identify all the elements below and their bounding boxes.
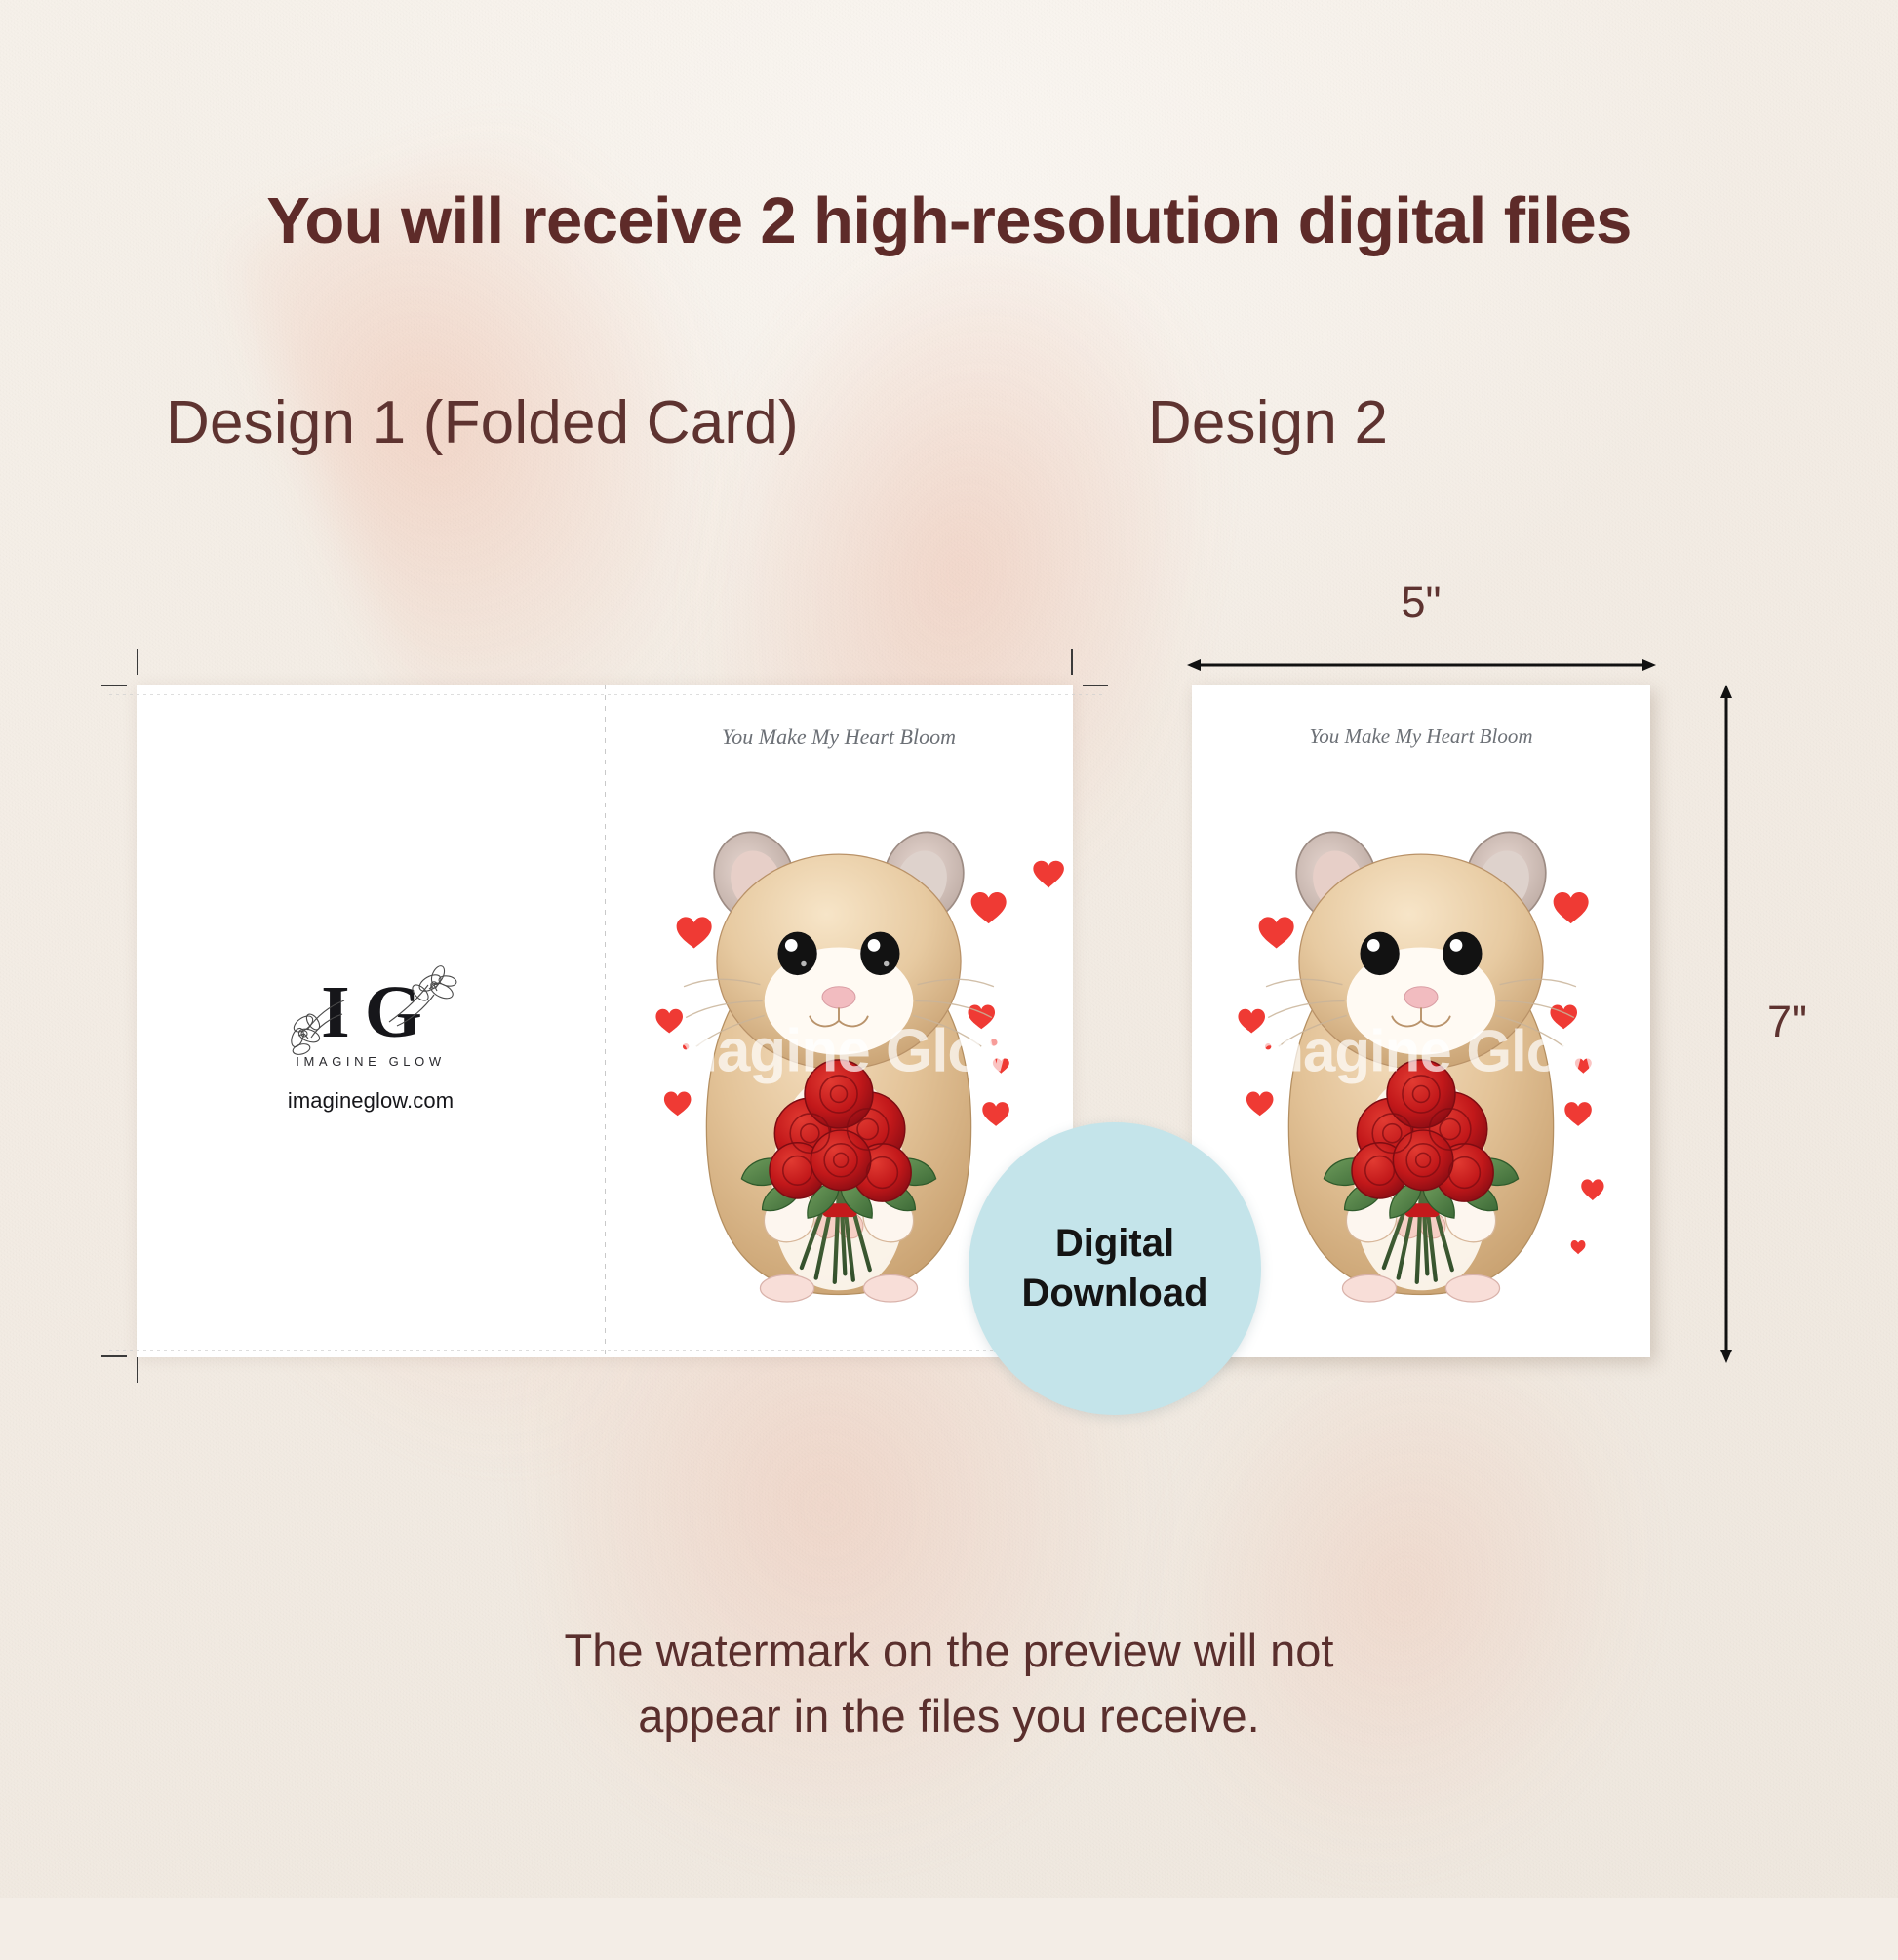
height-dimension-label: 7" [1767,997,1807,1047]
badge-line-1: Digital [1055,1219,1174,1269]
trim-mark-tl-v [137,649,138,675]
guide-line-top [109,694,1102,695]
design-1-folded-card-mockup[interactable]: I G IMAGINE GLOW imagineglow.com You Mak… [137,685,1073,1357]
design-1-label: Design 1 (Folded Card) [166,388,799,457]
badge-line-2: Download [1021,1269,1207,1318]
watermark-disclaimer: The watermark on the preview will not ap… [0,1619,1898,1748]
trim-mark-tl-h [101,685,127,686]
width-dimension-arrow [1185,655,1658,675]
trim-mark-tr-v [1071,649,1073,675]
hamster-nose [822,987,855,1008]
card2-tagline: You Make My Heart Bloom [1192,725,1650,749]
disclaimer-line-2: appear in the files you receive. [0,1684,1898,1749]
card-tagline: You Make My Heart Bloom [605,725,1073,750]
logo-wordmark: IMAGINE GLOW [224,1054,517,1069]
imagine-glow-logo: I G IMAGINE GLOW imagineglow.com [224,977,517,1114]
width-dimension-label: 5" [1401,577,1441,628]
trim-mark-bl-h [101,1355,127,1357]
page-title: You will receive 2 high-resolution digit… [0,183,1898,258]
logo-initials-text: I G [321,971,420,1053]
design-2-label: Design 2 [1148,388,1388,457]
logo-initials-ig: I G [321,977,420,1047]
poster-canvas: You will receive 2 high-resolution digit… [0,0,1898,1898]
guide-line-bottom [109,1350,1102,1351]
card-fold-line [605,685,606,1357]
disclaimer-line-1: The watermark on the preview will not [0,1619,1898,1684]
digital-download-badge[interactable]: Digital Download [969,1122,1261,1415]
trim-mark-bl-v [137,1357,138,1383]
logo-website-url: imagineglow.com [224,1088,517,1114]
trim-mark-tr-h [1083,685,1108,686]
height-dimension-arrow [1717,683,1736,1365]
card-back-panel: I G IMAGINE GLOW imagineglow.com [137,685,605,1357]
